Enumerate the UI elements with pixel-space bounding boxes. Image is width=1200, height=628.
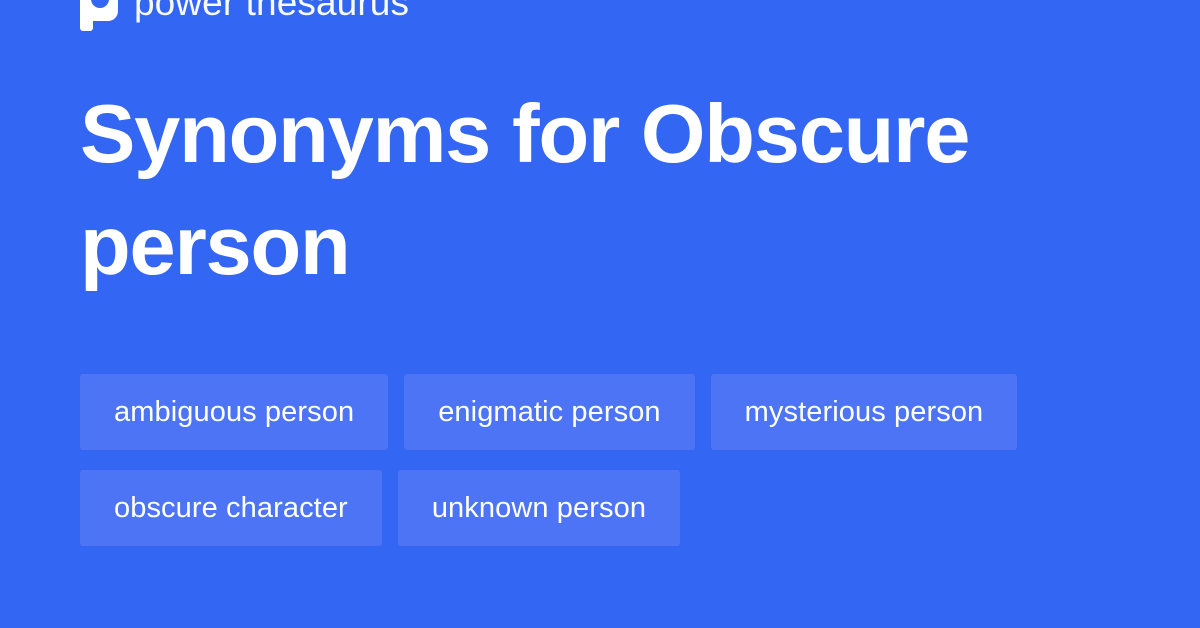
power-thesaurus-p-logo-icon — [80, 0, 118, 21]
synonym-chip[interactable]: enigmatic person — [404, 374, 694, 450]
synonym-chip-list: ambiguous person enigmatic person myster… — [80, 374, 1140, 546]
brand-logo[interactable]: power thesaurus — [80, 0, 409, 30]
page-title: Synonyms for Obscure person — [80, 78, 1080, 302]
synonym-chip[interactable]: ambiguous person — [80, 374, 388, 450]
brand-name: power thesaurus — [134, 0, 409, 21]
synonym-chip[interactable]: mysterious person — [711, 374, 1018, 450]
synonym-chip[interactable]: unknown person — [398, 470, 680, 546]
synonym-chip[interactable]: obscure character — [80, 470, 382, 546]
og-preview-card: power thesaurus Synonyms for Obscure per… — [0, 0, 1200, 628]
